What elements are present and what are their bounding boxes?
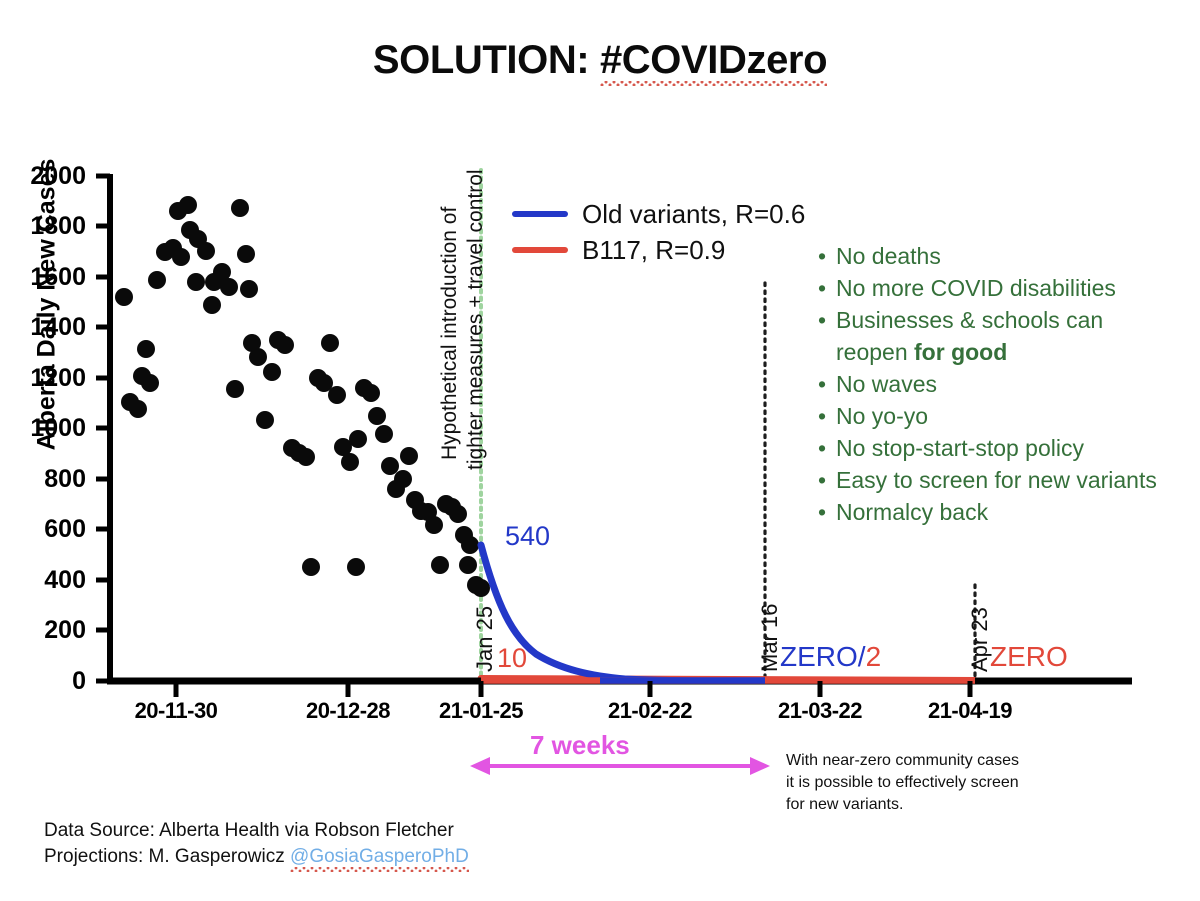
screening-footnote: With near-zero community cases it is pos… [786, 750, 1056, 816]
legend-label: B117, R=0.9 [582, 235, 725, 266]
benefit-text: No more COVID disabilities [836, 272, 1158, 304]
annotation-zero-half-blue: ZERO/ [780, 641, 866, 672]
list-item: • No yo-yo [818, 400, 1158, 432]
y-tick-label: 1200 [0, 364, 86, 393]
benefit-text: No waves [836, 368, 1158, 400]
bullet-icon: • [818, 496, 836, 528]
benefits-list: • No deaths • No more COVID disabilities… [818, 240, 1158, 528]
legend-item-b117: B117, R=0.9 [512, 232, 805, 268]
y-tick-label: 0 [0, 667, 86, 696]
y-tick-label: 1400 [0, 313, 86, 342]
list-item: • Normalcy back [818, 496, 1158, 528]
y-tick-label: 200 [0, 616, 86, 645]
legend-swatch-red-icon [512, 247, 568, 253]
list-item: • No more COVID disabilities [818, 272, 1158, 304]
scatter-observed [115, 196, 490, 597]
screening-footnote-line1: With near-zero community cases [786, 750, 1056, 772]
intervention-note-line1: Hypothetical introduction of [437, 207, 463, 460]
annotation-540: 540 [505, 521, 550, 552]
bullet-icon: • [818, 240, 836, 272]
seven-weeks-label: 7 weeks [530, 730, 630, 761]
bullet-icon: • [818, 400, 836, 432]
bullet-icon: • [818, 272, 836, 304]
benefit-text: No stop-start-stop policy [836, 432, 1158, 464]
y-tick-label: 1000 [0, 414, 86, 443]
benefit-text: Normalcy back [836, 496, 1158, 528]
benefit-text: Businesses & schools can reopen for good [836, 304, 1158, 368]
legend-item-old-variants: Old variants, R=0.6 [512, 196, 805, 232]
source-line-data: Data Source: Alberta Health via Robson F… [44, 818, 469, 844]
vline-label-jan25: Jan 25 [472, 606, 498, 672]
y-tick-label: 1800 [0, 212, 86, 241]
list-item: • No deaths [818, 240, 1158, 272]
source-projections-prefix: Projections: M. Gasperowicz [44, 846, 290, 867]
x-tick-label: 20-11-30 [81, 698, 271, 724]
screening-footnote-line2: it is possible to effectively screen [786, 772, 1056, 794]
bullet-icon: • [818, 368, 836, 400]
intervention-note-line2: tighter measures + travel control [463, 169, 489, 470]
annotation-zero-half-red: 2 [866, 641, 882, 672]
benefit-text: No yo-yo [836, 400, 1158, 432]
x-tick-label: 21-04-19 [875, 698, 1065, 724]
benefit-text-emphasis: for good [914, 339, 1007, 365]
author-handle-link[interactable]: @GosiaGasperoPhD [290, 844, 469, 870]
annotation-zero: ZERO [990, 641, 1068, 673]
list-item: • Businesses & schools can reopen for go… [818, 304, 1158, 368]
x-tick-label: 21-02-22 [555, 698, 745, 724]
infographic-page: SOLUTION: #COVIDzero [0, 0, 1200, 901]
y-tick-label: 1600 [0, 263, 86, 292]
legend-label: Old variants, R=0.6 [582, 199, 805, 230]
source-line-projections: Projections: M. Gasperowicz @GosiaGasper… [44, 844, 469, 870]
source-attribution: Data Source: Alberta Health via Robson F… [44, 818, 469, 870]
bullet-icon: • [818, 304, 836, 336]
list-item: • Easy to screen for new variants [818, 464, 1158, 496]
list-item: • No waves [818, 368, 1158, 400]
screening-footnote-line3: for new variants. [786, 794, 1056, 816]
y-tick-label: 400 [0, 566, 86, 595]
annotation-zero-half: ZERO/2 [780, 641, 881, 673]
annotation-10: 10 [497, 643, 527, 674]
benefit-text: Easy to screen for new variants [836, 464, 1158, 496]
bullet-icon: • [818, 432, 836, 464]
x-tick-label: 21-01-25 [386, 698, 576, 724]
bullet-icon: • [818, 464, 836, 496]
y-tick-label: 600 [0, 515, 86, 544]
benefit-text: No deaths [836, 240, 1158, 272]
list-item: • No stop-start-stop policy [818, 432, 1158, 464]
y-tick-label: 2000 [0, 162, 86, 191]
legend-swatch-blue-icon [512, 211, 568, 217]
chart-legend: Old variants, R=0.6 B117, R=0.9 [512, 196, 805, 268]
y-tick-label: 800 [0, 465, 86, 494]
